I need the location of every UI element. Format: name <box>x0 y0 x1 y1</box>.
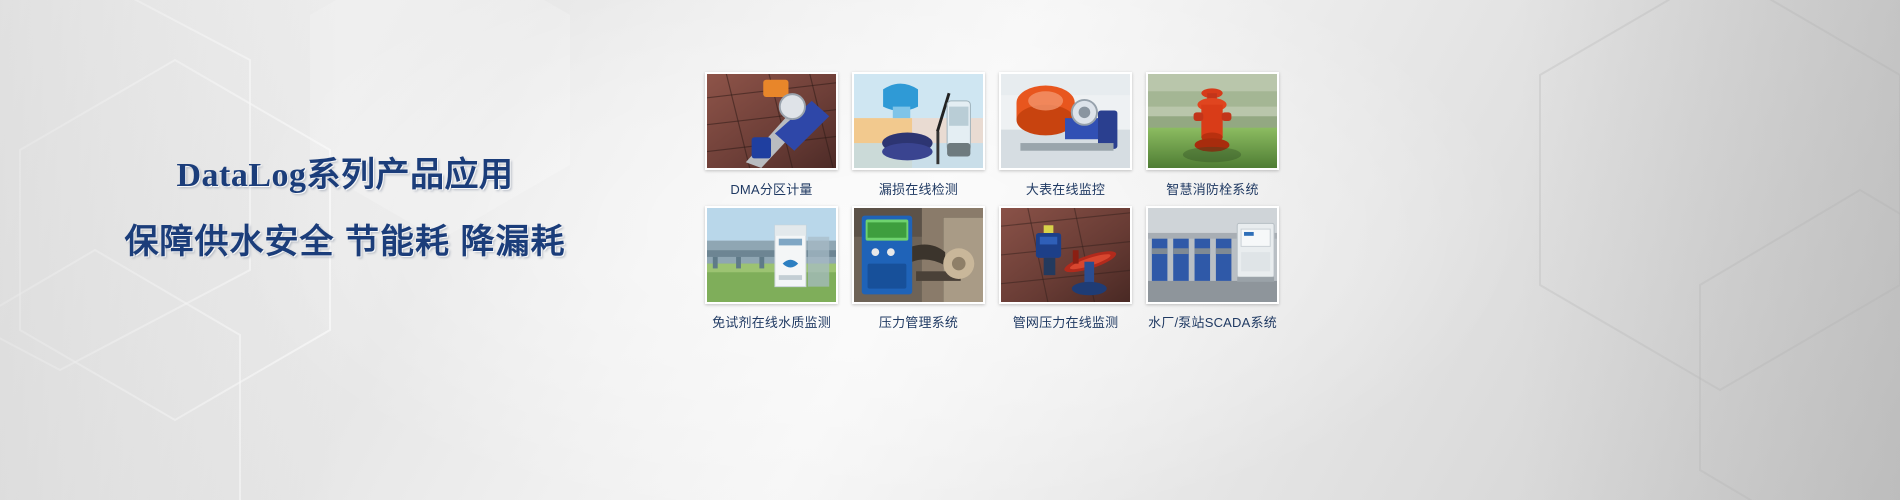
pressure-management-photo[interactable] <box>852 206 985 304</box>
pipe-pressure-photo[interactable] <box>999 206 1132 304</box>
headline-secondary: 保障供水安全 节能耗 降漏耗 <box>0 217 690 268</box>
gallery-item-leak-detection[interactable]: 漏损在线检测 <box>852 72 985 198</box>
gallery-item-smart-hydrant[interactable]: 智慧消防栓系统 <box>1146 72 1279 198</box>
gallery-item-caption: 管网压力在线监测 <box>1013 312 1119 331</box>
smart-hydrant-photo[interactable] <box>1146 72 1279 170</box>
gallery-item-caption: 漏损在线检测 <box>879 179 958 198</box>
gallery-row: 免试剂在线水质监测 <box>705 206 1285 331</box>
gallery-row: DMA分区计量 <box>705 72 1285 198</box>
promo-banner: DataLog系列产品应用 保障供水安全 节能耗 降漏耗 <box>0 0 1900 500</box>
gallery-item-caption: 压力管理系统 <box>879 312 958 331</box>
headline-primary: DataLog系列产品应用 <box>0 150 690 201</box>
gallery-item-pressure-management[interactable]: 压力管理系统 <box>852 206 985 331</box>
leak-detection-photo[interactable] <box>852 72 985 170</box>
gallery-item-water-quality[interactable]: 免试剂在线水质监测 <box>705 206 838 331</box>
gallery-item-scada[interactable]: 水厂/泵站SCADA系统 <box>1146 206 1279 331</box>
gallery-item-pipe-pressure[interactable]: 管网压力在线监测 <box>999 206 1132 331</box>
gallery-item-caption: 水厂/泵站SCADA系统 <box>1148 312 1277 331</box>
large-meter-photo[interactable] <box>999 72 1132 170</box>
gallery-item-caption: 智慧消防栓系统 <box>1166 179 1258 198</box>
gallery-item-caption: 大表在线监控 <box>1026 179 1105 198</box>
gallery-item-large-meter[interactable]: 大表在线监控 <box>999 72 1132 198</box>
water-quality-photo[interactable] <box>705 206 838 304</box>
gallery-item-caption: 免试剂在线水质监测 <box>712 312 831 331</box>
gallery-item-caption: DMA分区计量 <box>730 179 812 198</box>
dma-metering-photo[interactable] <box>705 72 838 170</box>
product-application-gallery: DMA分区计量 <box>705 72 1285 339</box>
gallery-item-dma-metering[interactable]: DMA分区计量 <box>705 72 838 198</box>
scada-photo[interactable] <box>1146 206 1279 304</box>
headline-block: DataLog系列产品应用 保障供水安全 节能耗 降漏耗 <box>0 150 690 268</box>
